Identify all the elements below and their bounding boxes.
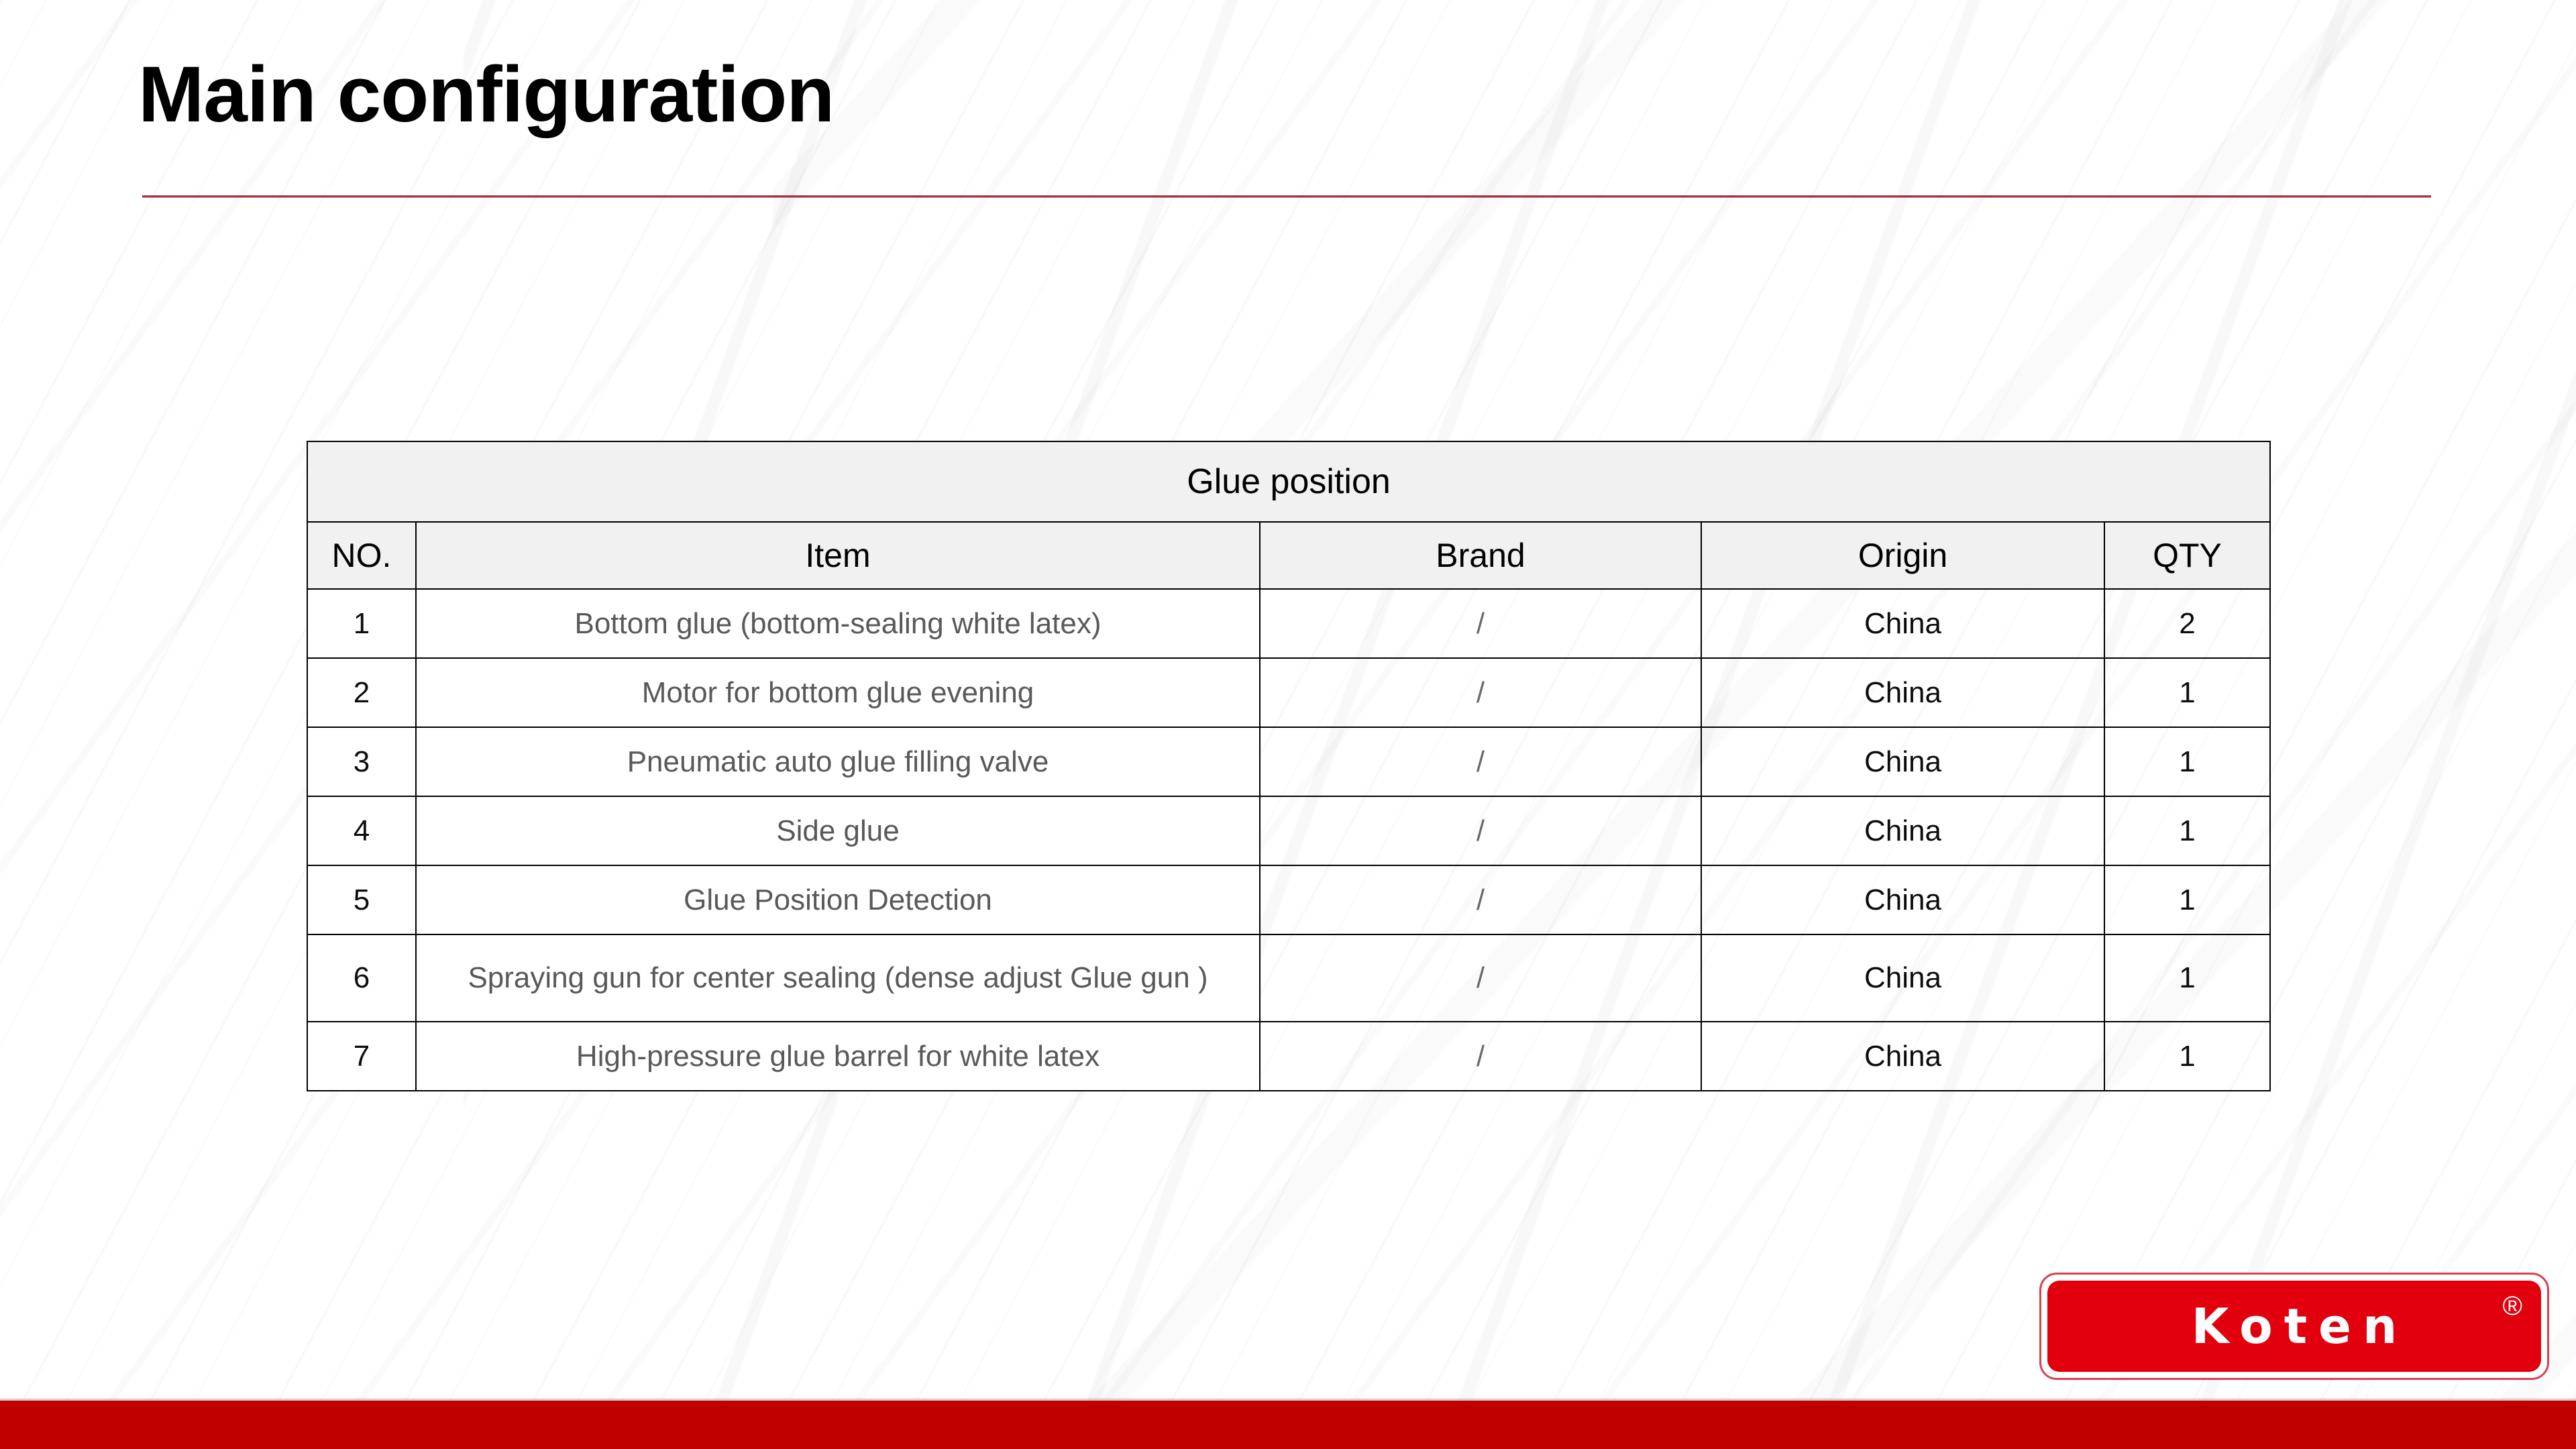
cell-qty: 1 [2104, 796, 2270, 865]
registered-trademark-icon: ® [2503, 1293, 2522, 1320]
cell-brand: / [1260, 589, 1701, 658]
koten-logo-plate: Koten ® [2047, 1281, 2541, 1372]
cell-no: 2 [307, 658, 416, 727]
cell-brand: / [1260, 934, 1701, 1022]
cell-origin: China [1701, 589, 2104, 658]
koten-logo: Koten ® [2039, 1273, 2549, 1380]
cell-qty: 1 [2104, 865, 2270, 934]
column-header-no: NO. [307, 522, 416, 589]
cell-origin: China [1701, 727, 2104, 796]
cell-brand: / [1260, 796, 1701, 865]
column-header-qty: QTY [2104, 522, 2270, 589]
cell-no: 3 [307, 727, 416, 796]
koten-wordmark: Koten [2047, 1302, 2541, 1350]
table-caption: Glue position [307, 441, 2270, 522]
cell-item: Side glue [416, 796, 1260, 865]
cell-brand: / [1260, 658, 1701, 727]
cell-origin: China [1701, 865, 2104, 934]
cell-item: Glue Position Detection [416, 865, 1260, 934]
cell-item: Spraying gun for center sealing (dense a… [416, 934, 1260, 1022]
cell-qty: 2 [2104, 589, 2270, 658]
column-header-item: Item [416, 522, 1260, 589]
column-header-brand: Brand [1260, 522, 1701, 589]
table-row: 4 Side glue / China 1 [307, 796, 2270, 865]
cell-brand: / [1260, 727, 1701, 796]
table-caption-row: Glue position [307, 441, 2270, 522]
table-row: 3 Pneumatic auto glue filling valve / Ch… [307, 727, 2270, 796]
cell-qty: 1 [2104, 1022, 2270, 1091]
table-row: 6 Spraying gun for center sealing (dense… [307, 934, 2270, 1022]
footer-red-bar [0, 1401, 2576, 1449]
slide-canvas: Main configuration Glue position NO. Ite… [0, 0, 2576, 1449]
cell-item: Motor for bottom glue evening [416, 658, 1260, 727]
table-row: 2 Motor for bottom glue evening / China … [307, 658, 2270, 727]
cell-origin: China [1701, 796, 2104, 865]
cell-item: High-pressure glue barrel for white late… [416, 1022, 1260, 1091]
table-header-row: NO. Item Brand Origin QTY [307, 522, 2270, 589]
title-divider-rule [142, 195, 2431, 198]
cell-brand: / [1260, 865, 1701, 934]
cell-no: 6 [307, 934, 416, 1022]
cell-no: 5 [307, 865, 416, 934]
cell-origin: China [1701, 658, 2104, 727]
main-configuration-table: Glue position NO. Item Brand Origin QTY … [307, 441, 2271, 1091]
column-header-origin: Origin [1701, 522, 2104, 589]
table-row: 5 Glue Position Detection / China 1 [307, 865, 2270, 934]
cell-qty: 1 [2104, 934, 2270, 1022]
cell-no: 7 [307, 1022, 416, 1091]
cell-origin: China [1701, 1022, 2104, 1091]
cell-item: Bottom glue (bottom-sealing white latex) [416, 589, 1260, 658]
table-row: 1 Bottom glue (bottom-sealing white late… [307, 589, 2270, 658]
cell-qty: 1 [2104, 727, 2270, 796]
cell-no: 4 [307, 796, 416, 865]
cell-origin: China [1701, 934, 2104, 1022]
cell-item: Pneumatic auto glue filling valve [416, 727, 1260, 796]
cell-brand: / [1260, 1022, 1701, 1091]
cell-qty: 1 [2104, 658, 2270, 727]
page-title: Main configuration [138, 55, 834, 134]
cell-no: 1 [307, 589, 416, 658]
table-row: 7 High-pressure glue barrel for white la… [307, 1022, 2270, 1091]
